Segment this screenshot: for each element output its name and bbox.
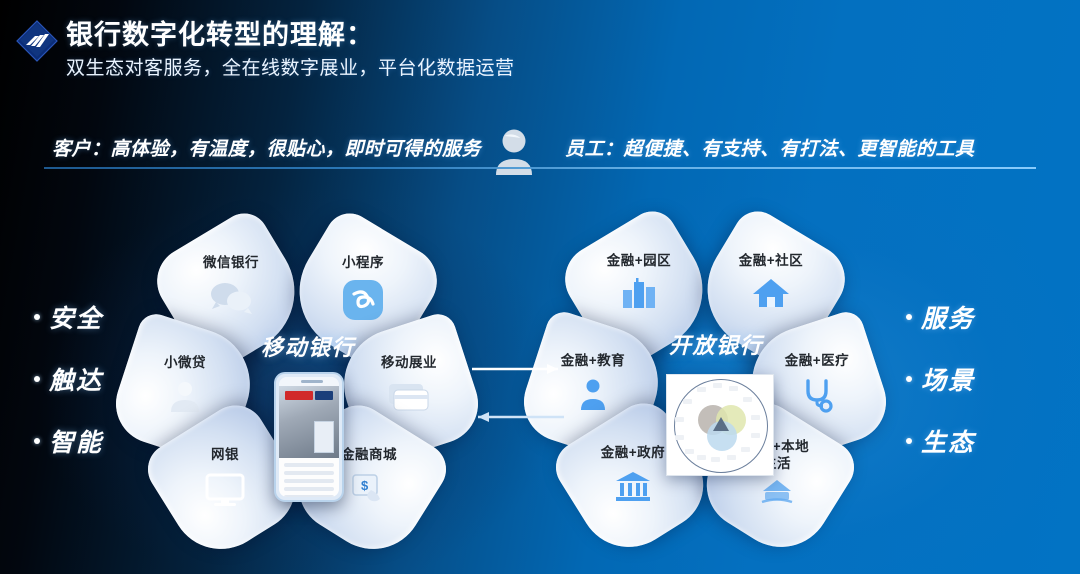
right-bullet-item: 生态 — [906, 410, 1046, 472]
band-divider — [44, 167, 1036, 169]
right-bullet-label: 场景 — [921, 361, 975, 397]
arrow-left-icon — [478, 412, 564, 422]
petal-label: 微信银行 — [168, 254, 294, 271]
bullet-dot-icon — [34, 314, 40, 320]
petal-label: 小程序 — [300, 254, 426, 271]
left-bullet-label: 安全 — [49, 299, 103, 335]
mobile-banking-phone-mockup — [274, 372, 344, 502]
petal-label: 网银 — [162, 446, 288, 463]
right-bullet-item: 场景 — [906, 348, 1046, 410]
bullet-dot-icon — [34, 438, 40, 444]
local-life-icon — [714, 476, 840, 506]
diamond-bars-logo-icon — [14, 18, 60, 64]
slide-root: 银行数字化转型的理解： 双生态对客服务，全在线数字展业，平台化数据运营 客户：高… — [0, 0, 1080, 574]
mini-program-icon — [300, 278, 426, 322]
open-bank-venn-diagram — [666, 374, 774, 476]
buildings-icon — [576, 276, 702, 308]
right-bullet-label: 生态 — [921, 423, 975, 459]
arrow-right-icon — [472, 364, 558, 374]
right-bullet-label: 服务 — [921, 299, 975, 335]
cluster-center-label: 移动银行 — [128, 330, 488, 362]
open-banking-cluster: 金融+园区 金融+社区 — [536, 220, 896, 520]
left-bullet-label: 触达 — [49, 361, 103, 397]
svg-text:$: $ — [361, 478, 369, 493]
title-block: 银行数字化转型的理解： 双生态对客服务，全在线数字展业，平台化数据运营 — [66, 18, 515, 83]
page-title: 银行数字化转型的理解： — [66, 18, 515, 52]
bullet-dot-icon — [906, 438, 912, 444]
left-bullet-label: 智能 — [49, 423, 103, 459]
cluster-center-label: 开放银行 — [536, 328, 896, 360]
right-bullet-item: 服务 — [906, 286, 1046, 348]
desktop-monitor-icon — [162, 472, 288, 508]
wechat-bubbles-icon — [168, 280, 294, 314]
employee-statement: 员工：超便捷、有支持、有打法、更智能的工具 — [565, 134, 975, 161]
petal-label: 金融+园区 — [576, 252, 702, 269]
petal-label: 金融+社区 — [708, 252, 834, 269]
house-icon — [708, 276, 834, 310]
page-subtitle: 双生态对客服务，全在线数字展业，平台化数据运营 — [66, 55, 515, 83]
right-bullet-list: 服务 场景 生态 — [906, 286, 1046, 472]
mobile-banking-cluster: 微信银行 小程序 — [128, 222, 488, 522]
customer-statement: 客户：高体验，有温度，很贴心，即时可得的服务 — [52, 134, 481, 161]
cluster-connector-arrows — [466, 355, 570, 433]
bullet-dot-icon — [906, 314, 912, 320]
bullet-dot-icon — [34, 376, 40, 382]
bullet-dot-icon — [906, 376, 912, 382]
